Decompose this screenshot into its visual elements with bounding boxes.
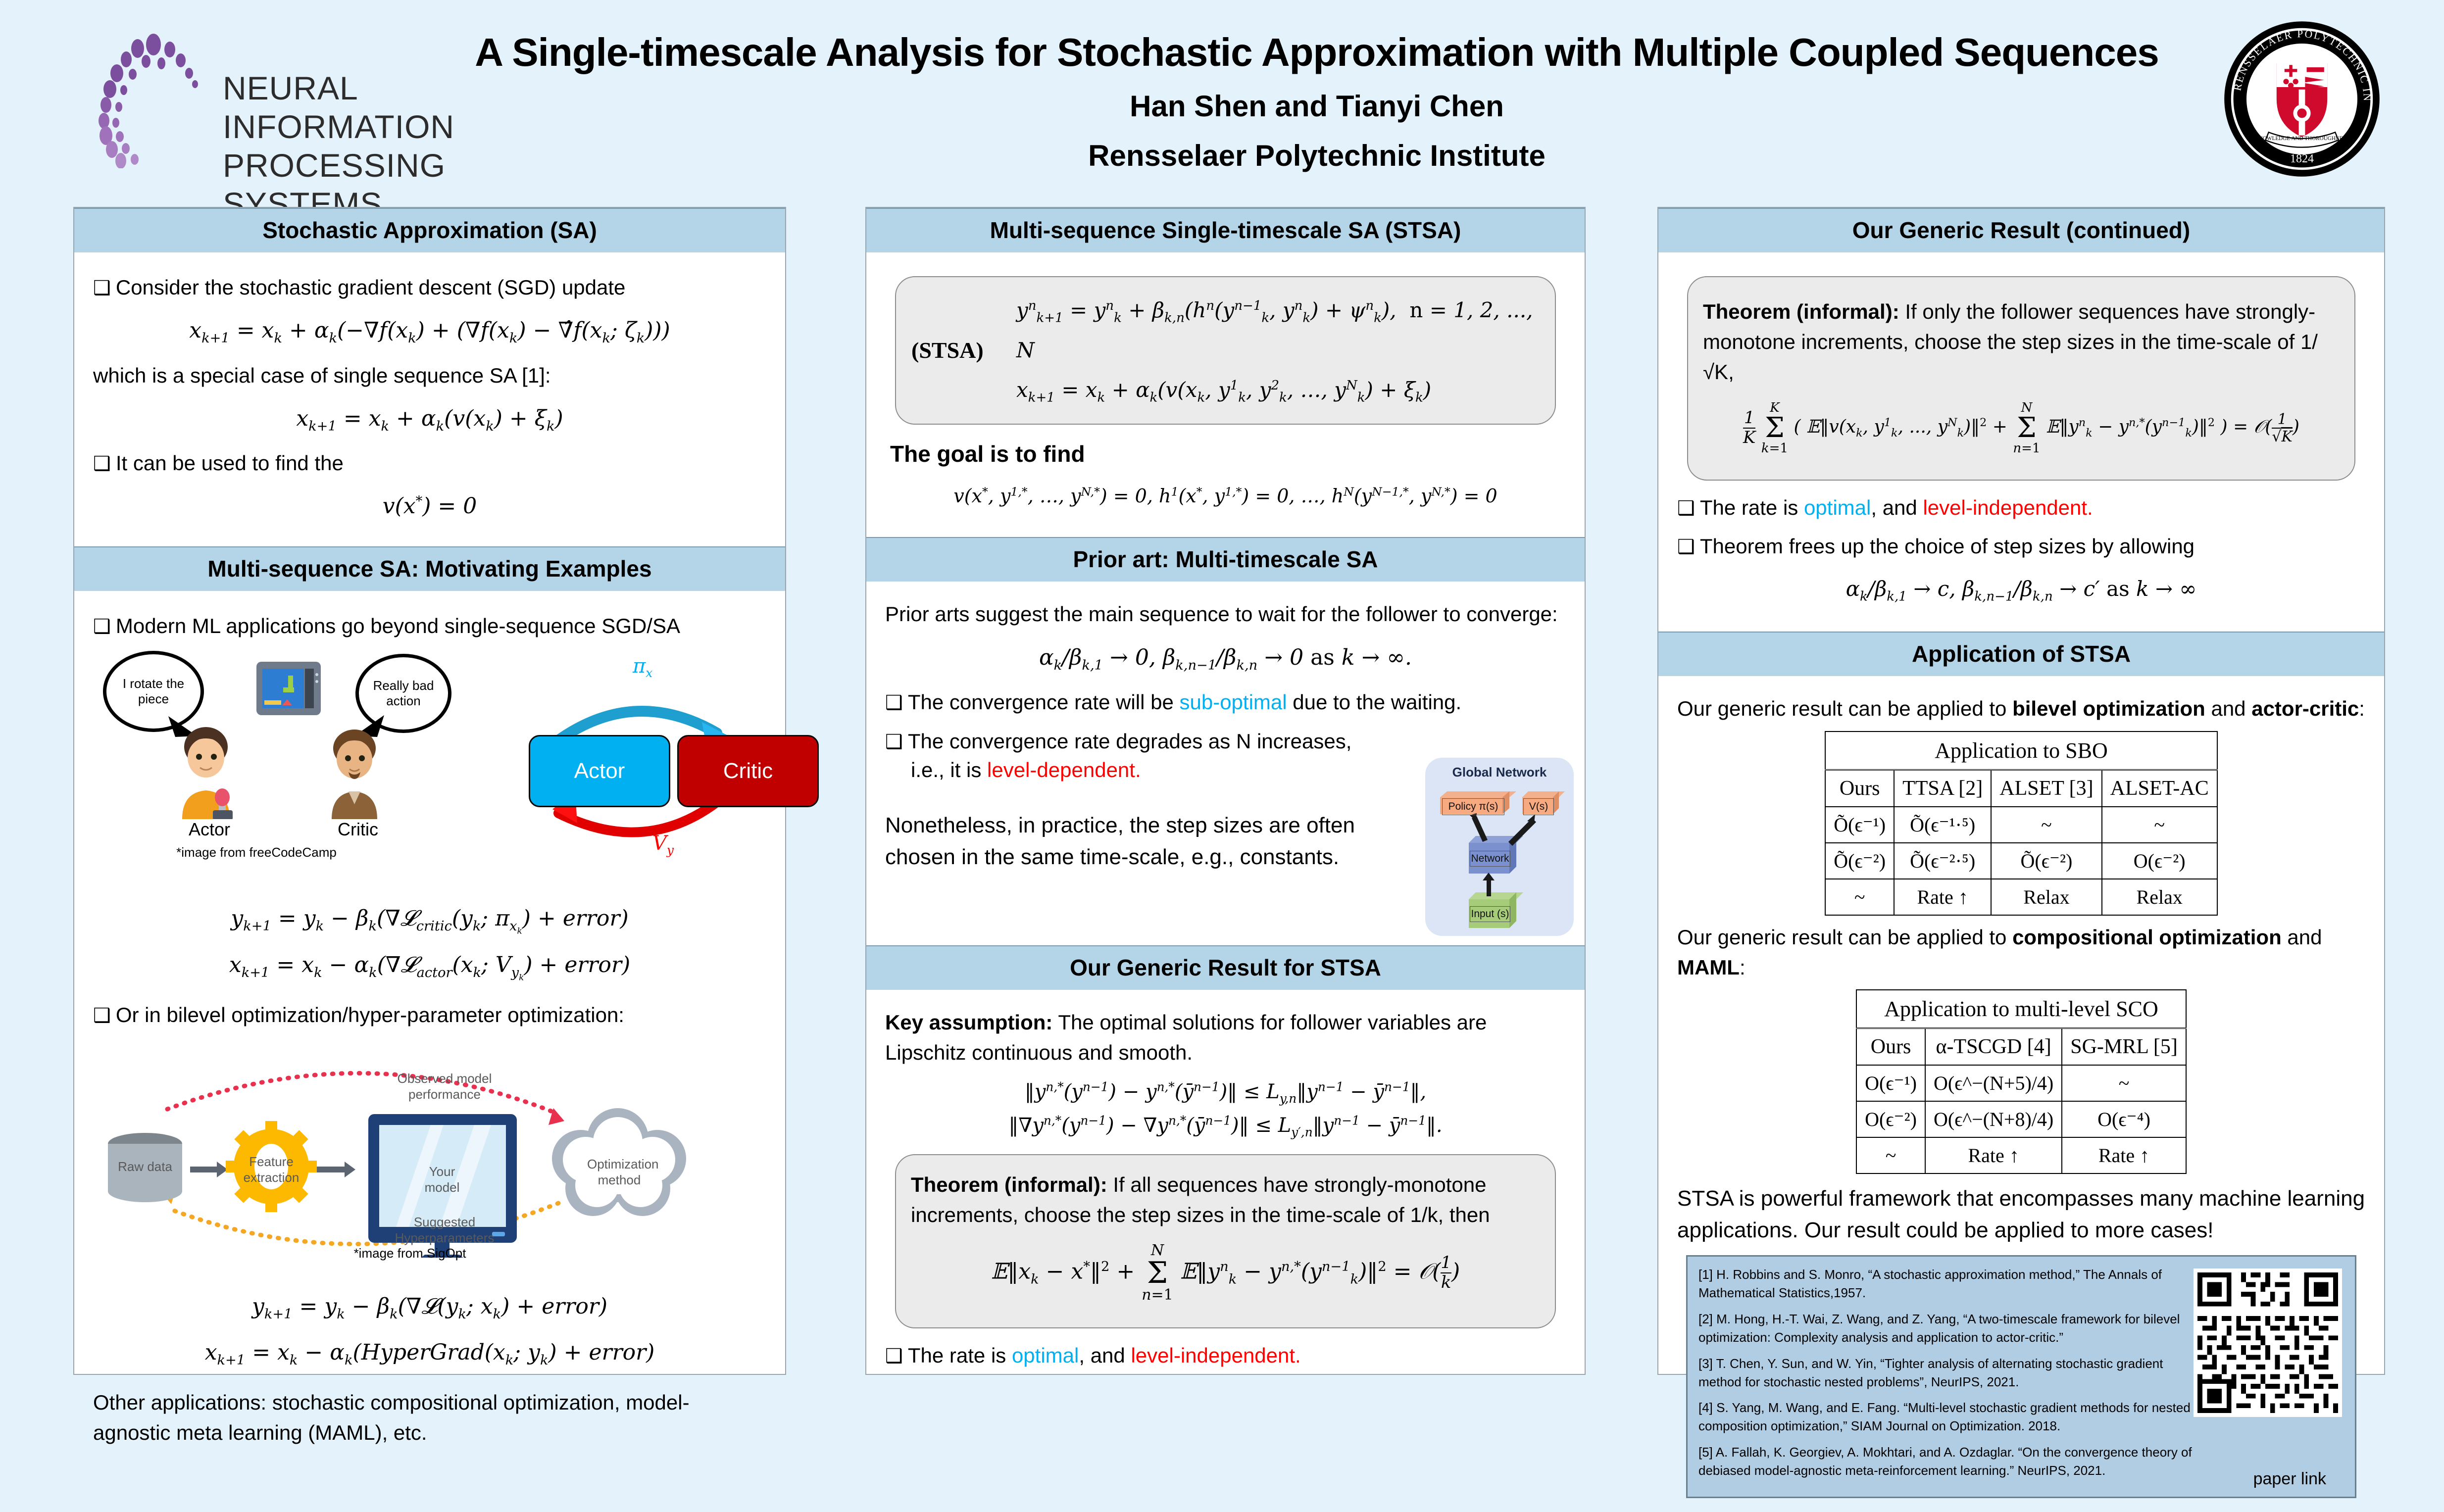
cell: Rate ↑ (2062, 1137, 2186, 1173)
label-key-assumption: Key assumption: (885, 1011, 1052, 1034)
cell: Õ(ϵ⁻²) (1991, 843, 2101, 879)
bullet-sgd-update: ❑Consider the stochastic gradient descen… (93, 273, 766, 302)
table-sco-header-row: Ours α-TSCGD [4] SG-MRL [5] (1856, 1028, 2186, 1066)
label-actor: Actor (170, 819, 249, 840)
theorem-box-generic: Theorem (informal): If all sequences hav… (895, 1154, 1556, 1328)
sigopt-illustration: Raw data Feature extraction Your model O… (93, 1040, 766, 1272)
stsa-tag: (STSA) (911, 290, 1016, 411)
cell: Õ(ϵ⁻²·⁵) (1894, 843, 1991, 879)
column-middle: Multi-sequence Single-timescale SA (STSA… (865, 207, 1586, 1375)
reference-2: [2] M. Hong, H.-T. Wai, Z. Wang, and Z. … (1698, 1310, 2194, 1347)
label-theorem: Theorem (informal): (911, 1173, 1107, 1196)
bullet-rate-optimal-col2: ❑The rate is optimal, and level-independ… (885, 1341, 1566, 1370)
table-sbo-title: Application to SBO (1825, 732, 2217, 770)
theorem-box-continued: Theorem (informal): If only the follower… (1687, 276, 2355, 481)
poster-title: A Single-timescale Analysis for Stochast… (446, 30, 2188, 75)
text-prior-arts: Prior arts suggest the main sequence to … (885, 599, 1566, 630)
actor-critic-illustration: I rotate the piece Really bad action (93, 651, 766, 864)
reference-4: [4] S. Yang, M. Wang, and E. Fang. “Mult… (1698, 1399, 2194, 1435)
label-observed-performance: Observed model performance (390, 1071, 499, 1103)
highlight-optimal: optimal (1012, 1344, 1079, 1367)
cell: ~ (1856, 1137, 1925, 1173)
bullet-used-to-find: ❑It can be used to find the (93, 449, 766, 478)
equation-sgd: xk+1 = xk + αk(−∇f(xk) + (∇f(xk) − ∇̂f(x… (93, 314, 766, 349)
equation-lipschitz-1: ‖yn,*(yn−1) − yn,*(ȳn−1)‖ ≤ Ly,n‖yn−1 − … (885, 1077, 1566, 1108)
text-key-assumption: Key assumption: The optimal solutions fo… (885, 1008, 1566, 1068)
critic-avatar-icon (316, 728, 400, 819)
credit-sigopt: *image from SigOpt (316, 1246, 504, 1261)
panel-body-prior-art: Prior arts suggest the main sequence to … (866, 582, 1585, 885)
box-actor: Actor (529, 735, 670, 807)
text-nonetheless: Nonetheless, in practice, the step sizes… (885, 810, 1355, 873)
credit-freecodecamp: *image from freeCodeCamp (152, 845, 360, 860)
panel-header-generic-result: Our Generic Result for STSA (866, 945, 1585, 990)
cell: ~ (1825, 879, 1894, 915)
table-application-sbo: Application to SBO Ours TTSA [2] ALSET [… (1825, 731, 2218, 916)
neurips-line-1: NEURAL INFORMATION (223, 69, 455, 146)
label-suggested-hyperparameters: Suggested Hyperparameters (385, 1214, 504, 1246)
table-sbo-header-row: Ours TTSA [2] ALSET [3] ALSET-AC (1825, 770, 2217, 807)
table-row: O(ϵ⁻²) O(ϵ^−(N+8)/4) O(ϵ⁻⁴) (1856, 1101, 2186, 1137)
cell: ~ (1991, 807, 2101, 843)
equation-actor-update: xk+1 = xk − αk(∇𝓛actor(xk; Vyk) + error) (93, 949, 766, 984)
label-value-v: Vy (652, 832, 674, 857)
cell: Õ(ϵ⁻¹·⁵) (1894, 807, 1991, 843)
highlight-level-independent: level-independent. (1131, 1344, 1300, 1367)
bullet-box-icon: ❑ (93, 1004, 111, 1027)
references-box: [1] H. Robbins and S. Monro, “A stochast… (1686, 1255, 2356, 1498)
neurips-swirl-icon (79, 20, 228, 168)
reference-3: [3] T. Chen, Y. Sun, and W. Yin, “Tighte… (1698, 1355, 2194, 1391)
game-screen-icon (256, 662, 321, 716)
bullet-sub-optimal: ❑The convergence rate will be sub-optima… (885, 688, 1566, 717)
text-goal-title: The goal is to find (890, 438, 1566, 471)
bullet-modern-ml: ❑Modern ML applications go beyond single… (93, 612, 766, 641)
label-theorem: Theorem (informal): (1703, 300, 1899, 323)
equation-critic-update: yk+1 = yk − βk(∇𝓛critic(yk; πxk) + error… (93, 902, 766, 937)
highlight-level-dependent: level-dependent. (987, 758, 1141, 781)
neurips-logo: NEURAL INFORMATION PROCESSING SYSTEMS (79, 20, 455, 168)
text-closing-statement: STSA is powerful framework that encompas… (1677, 1183, 2365, 1246)
bullet-bilevel: ❑Or in bilevel optimization/hyper-parame… (93, 1001, 766, 1030)
highlight-sub-optimal: sub-optimal (1179, 690, 1287, 714)
cell: O(ϵ⁻¹) (1856, 1065, 1925, 1101)
column-right: Our Generic Result (continued) Theorem (… (1657, 207, 2385, 1375)
cell: O(ϵ⁻²) (1856, 1101, 1925, 1137)
label-vs: V(s) (1523, 798, 1554, 815)
table-application-sco: Application to multi-level SCO Ours α-TS… (1856, 989, 2187, 1174)
qr-code-icon (2197, 1272, 2338, 1413)
column-left: Stochastic Approximation (SA) ❑Consider … (73, 207, 786, 1375)
panel-body-generic-continued: Theorem (informal): If only the follower… (1658, 252, 2384, 624)
bullet-frees-step-sizes: ❑Theorem frees up the choice of step siz… (1677, 532, 2365, 561)
poster-authors: Han Shen and Tianyi Chen (446, 89, 2188, 123)
table-sbo-col-alset: ALSET [3] (1991, 770, 2101, 807)
cell: O(ϵ^−(N+8)/4) (1925, 1101, 2062, 1137)
emph-bilevel-optimization: bilevel optimization (2012, 697, 2205, 720)
poster-affiliation: Rensselaer Polytechnic Institute (446, 139, 2188, 173)
bullet-level-dependent: ❑The convergence rate degrades as N incr… (885, 727, 1360, 785)
cell: O(ϵ^−(N+5)/4) (1925, 1065, 2062, 1101)
box-critic: Critic (677, 735, 819, 807)
cell: Relax (2102, 879, 2217, 915)
label-network: Network (1470, 851, 1510, 867)
panel-header-application: Application of STSA (1658, 632, 2384, 676)
global-network-figure: Global Network (1425, 758, 1574, 936)
text-theorem-informal: Theorem (informal): If all sequences hav… (911, 1170, 1540, 1230)
cell: Rate ↑ (1925, 1137, 2062, 1173)
emph-maml: MAML (1677, 956, 1740, 979)
panel-header-stochastic-approximation: Stochastic Approximation (SA) (74, 208, 785, 252)
text-other-applications: Other applications: stochastic compositi… (93, 1388, 766, 1448)
bullet-box-icon: ❑ (1677, 497, 1695, 520)
stsa-equation-box: (STSA) ynk+1 = ynk + βk,n(hn(yn−1k, ynk)… (895, 276, 1556, 425)
text-special-case: which is a special case of single sequen… (93, 361, 766, 391)
reference-5: [5] A. Fallah, K. Georgiev, A. Mokhtari,… (1698, 1443, 2194, 1480)
label-policy: Policy π(s) (1442, 798, 1504, 815)
panel-body-generic-result: Key assumption: The optimal solutions fo… (866, 990, 1585, 1385)
label-raw-data: Raw data (113, 1159, 177, 1175)
table-sbo-col-alset-ac: ALSET-AC (2102, 770, 2217, 807)
cell: O(ϵ⁻⁴) (2062, 1101, 2186, 1137)
label-your-model: Your model (410, 1164, 474, 1196)
label-input: Input (s) (1470, 906, 1510, 922)
equation-stsa-main: xk+1 = xk + αk(v(xk, y1k, y2k, …, yNk) +… (1016, 370, 1540, 410)
equation-free-stepsizes: αk/βk,1 → c, βk,n−1/βk,n → c′ as k → ∞ (1677, 573, 2365, 606)
table-sbo-col-ours: Ours (1825, 770, 1894, 807)
qr-code-paper-link[interactable] (2194, 1268, 2342, 1417)
poster-root: NEURAL INFORMATION PROCESSING SYSTEMS A … (0, 0, 2444, 1425)
cell: Õ(ϵ⁻²) (1825, 843, 1894, 879)
equation-root: v(x*) = 0 (93, 490, 766, 523)
cell: Rate ↑ (1894, 879, 1991, 915)
table-row: O(ϵ⁻¹) O(ϵ^−(N+5)/4) ~ (1856, 1065, 2186, 1101)
equation-prior-timescale: αk/βk,1 → 0, βk,n−1/βk,n → 0 as k → ∞. (885, 641, 1566, 676)
bullet-box-icon: ❑ (93, 615, 111, 638)
panel-body-stochastic-approximation: ❑Consider the stochastic gradient descen… (74, 252, 785, 539)
bullet-box-icon: ❑ (93, 277, 111, 299)
table-sbo-col-ttsa: TTSA [2] (1894, 770, 1991, 807)
bullet-box-icon: ❑ (1677, 536, 1695, 558)
label-critic: Critic (318, 819, 398, 840)
equation-bilevel-lower: yk+1 = yk − βk(∇𝓛(yk; xk) + error) (93, 1290, 766, 1325)
table-sco-col-ours: Ours (1856, 1028, 1925, 1066)
table-row: ~ Rate ↑ Rate ↑ (1856, 1137, 2186, 1173)
highlight-optimal: optimal (1804, 496, 1871, 519)
neurips-wordmark: NEURAL INFORMATION PROCESSING SYSTEMS (223, 69, 455, 224)
panel-body-motivating-examples: ❑Modern ML applications go beyond single… (74, 591, 785, 1460)
label-paper-link: paper link (2253, 1469, 2326, 1489)
label-optimization-method: Optimization method (587, 1156, 651, 1188)
actor-avatar-icon (167, 725, 251, 819)
bullet-box-icon: ❑ (93, 452, 111, 475)
cell: ~ (2102, 807, 2217, 843)
label-feature-extraction: Feature extraction (239, 1154, 303, 1186)
equation-theorem-rate: 𝔼‖xk − x*‖2 + N Σ n=1 𝔼‖ynk − yn,*(yn−1k… (911, 1243, 1540, 1303)
rpi-seal-icon: KNOWLEDGE AND THOROUGHNESS 1824 RENSSELA… (2223, 20, 2381, 178)
table-row: ~ Rate ↑ Relax Relax (1825, 879, 2217, 915)
panel-header-motivating-examples: Multi-sequence SA: Motivating Examples (74, 546, 785, 591)
table-sco-col-sgmrl: SG-MRL [5] (2062, 1028, 2186, 1066)
equation-goal: v(x*, y1,*, …, yN,*) = 0, h1(x*, y1,*) =… (885, 482, 1566, 510)
table-sco-title: Application to multi-level SCO (1856, 990, 2186, 1028)
reference-1: [1] H. Robbins and S. Monro, “A stochast… (1698, 1266, 2194, 1302)
equation-single-sequence-sa: xk+1 = xk + αk(v(xk) + ξk) (93, 402, 766, 437)
equation-stsa-follower: ynk+1 = ynk + βk,n(hn(yn−1k, ynk) + ψnk)… (1016, 291, 1540, 370)
panel-body-stsa: (STSA) ynk+1 = ynk + βk,n(hn(yn−1k, ynk)… (866, 252, 1585, 527)
equation-lipschitz-2: ‖∇yn,*(yn−1) − ∇yn,*(ȳn−1)‖ ≤ Ly′,n‖yn−1… (885, 1111, 1566, 1141)
equation-bilevel-upper: xk+1 = xk − αk(HyperGrad(xk; yk) + error… (93, 1336, 766, 1371)
panel-body-application: Our generic result can be applied to bil… (1658, 676, 2384, 1512)
equation-theorem-sqrtK: 1K K Σ k=1 ( 𝔼‖v(xk, y1k, ..., yNk)‖2 + … (1703, 401, 2340, 455)
text-apply-compositional: Our generic result can be applied to com… (1677, 923, 2365, 983)
text-theorem-continued: Theorem (informal): If only the follower… (1703, 297, 2340, 388)
bullet-box-icon: ❑ (885, 1345, 903, 1367)
table-row: Õ(ϵ⁻¹) Õ(ϵ⁻¹·⁵) ~ ~ (1825, 807, 2217, 843)
bullet-box-icon: ❑ (885, 691, 903, 714)
text-apply-bilevel: Our generic result can be applied to bil… (1677, 694, 2365, 724)
references-list: [1] H. Robbins and S. Monro, “A stochast… (1698, 1266, 2194, 1480)
highlight-level-independent: level-independent. (1923, 496, 2093, 519)
bullet-box-icon: ❑ (885, 731, 903, 753)
emph-compositional-optimization: compositional optimization (2012, 926, 2282, 949)
poster-header: NEURAL INFORMATION PROCESSING SYSTEMS A … (0, 0, 2444, 198)
panel-header-prior-art: Prior art: Multi-timescale SA (866, 537, 1585, 582)
cell: Õ(ϵ⁻¹) (1825, 807, 1894, 843)
panel-header-generic-continued: Our Generic Result (continued) (1658, 208, 2384, 252)
cell: ~ (2062, 1065, 2186, 1101)
emph-actor-critic: actor-critic (2251, 697, 2359, 720)
bullet-rate-optimal-col3: ❑The rate is optimal, and level-independ… (1677, 493, 2365, 523)
table-sco-col-tscgd: α-TSCGD [4] (1925, 1028, 2062, 1066)
cell: O(ϵ⁻²) (2102, 843, 2217, 879)
cell: Relax (1991, 879, 2101, 915)
seal-year: 1824 (2290, 152, 2314, 165)
table-row: Õ(ϵ⁻²) Õ(ϵ⁻²·⁵) Õ(ϵ⁻²) O(ϵ⁻²) (1825, 843, 2217, 879)
seal-motto: KNOWLEDGE AND THOROUGHNESS (2255, 136, 2349, 142)
panel-header-stsa: Multi-sequence Single-timescale SA (STSA… (866, 208, 1585, 252)
